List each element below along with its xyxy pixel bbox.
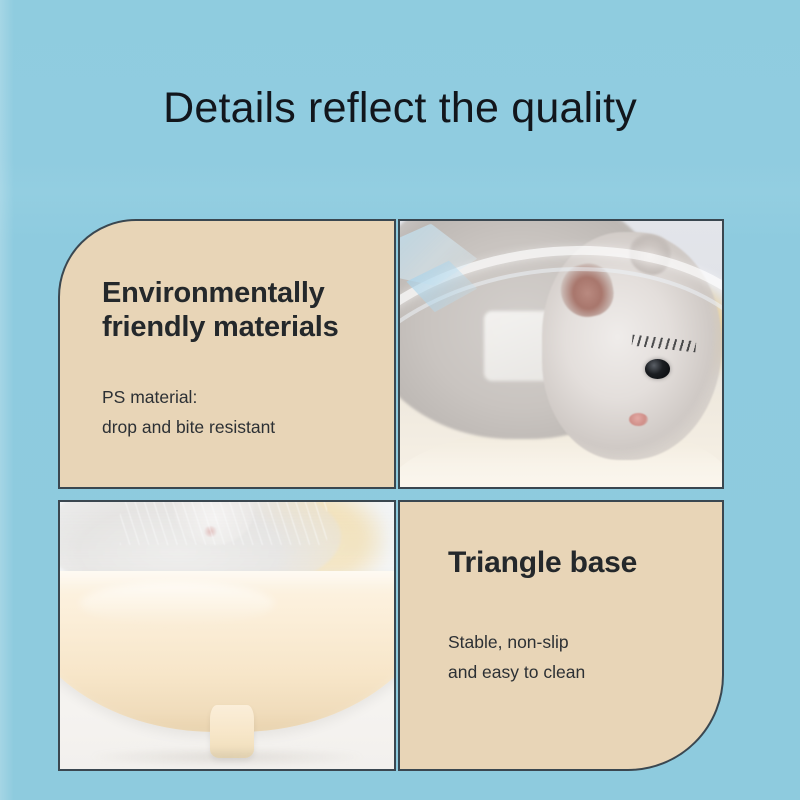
panel-subtext-line: and easy to clean	[448, 657, 692, 687]
bowl-drop-shadow	[93, 748, 360, 767]
panel-subtext: Stable, non-slip and easy to clean	[448, 627, 692, 687]
panel-cream-bowl-triangle-base	[58, 500, 396, 771]
panel-heading: Triangle base	[448, 546, 692, 581]
panel-subtext-line: Stable, non-slip	[448, 627, 692, 657]
panel-content: Environmentally friendly materials PS ma…	[60, 221, 394, 487]
product-photo-bowl-base	[60, 502, 394, 769]
bowl-highlight	[80, 582, 274, 625]
panel-content: Triangle base Stable, non-slip and easy …	[400, 502, 722, 769]
feature-panel-grid: Environmentally friendly materials PS ma…	[58, 219, 724, 771]
page-title: Details reflect the quality	[0, 86, 800, 131]
panel-heading: Environmentally friendly materials	[102, 277, 376, 344]
product-photo-hamster-wheel	[400, 221, 722, 487]
panel-subtext-line: PS material:	[102, 382, 376, 412]
panel-subtext-line: drop and bite resistant	[102, 412, 376, 442]
panel-environmentally-friendly-materials: Environmentally friendly materials PS ma…	[58, 219, 396, 489]
panel-hamster-in-clear-wheel	[398, 219, 724, 489]
panel-triangle-base: Triangle base Stable, non-slip and easy …	[398, 500, 724, 771]
panel-subtext: PS material: drop and bite resistant	[102, 382, 376, 442]
